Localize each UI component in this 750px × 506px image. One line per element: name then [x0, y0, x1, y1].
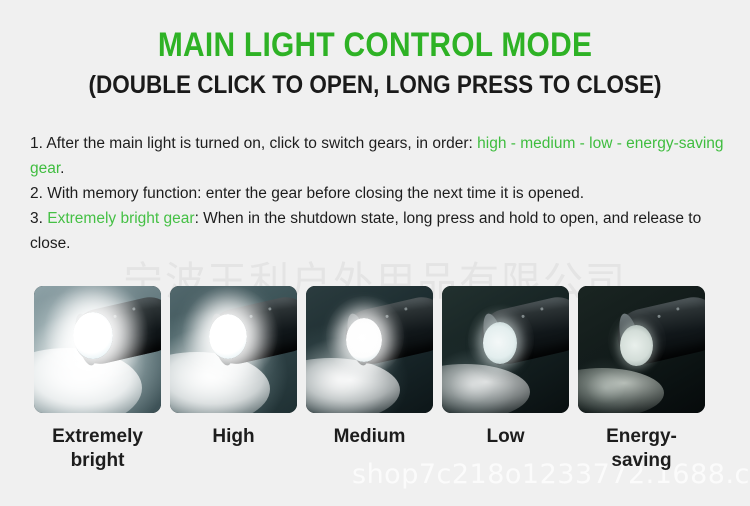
instruction-3-number: 3. — [30, 210, 43, 227]
barrel-dot-1 — [385, 315, 389, 319]
caption-extremely-bright: Extremely bright — [34, 425, 161, 473]
instruction-item-1: 1. After the main light is turned on, cl… — [30, 131, 730, 181]
caption-low: Low — [442, 425, 569, 473]
gallery-image-low — [442, 286, 569, 413]
instruction-1-number: 1. — [30, 135, 43, 152]
led-emitter — [73, 312, 113, 359]
gallery-image-energy-saving — [578, 286, 705, 413]
barrel-dot-1 — [657, 315, 661, 319]
caption-high: High — [170, 425, 297, 473]
instruction-2-number: 2. — [30, 185, 43, 202]
barrel-dot-2 — [404, 307, 408, 311]
instruction-1-period: . — [60, 160, 64, 177]
instruction-3-highlight: Extremely bright gear — [47, 210, 194, 227]
instruction-item-2: 2. With memory function: enter the gear … — [30, 181, 730, 206]
product-info-banner: MAIN LIGHT CONTROL MODE (DOUBLE CLICK TO… — [0, 0, 750, 506]
instruction-list: 1. After the main light is turned on, cl… — [30, 131, 730, 256]
gallery-image-medium — [306, 286, 433, 413]
caption-energy-saving: Energy-saving — [578, 425, 705, 473]
page-subtitle: (DOUBLE CLICK TO OPEN, LONG PRESS TO CLO… — [38, 72, 713, 98]
gallery-image-extremely-bright — [34, 286, 161, 413]
instruction-1-text: After the main light is turned on, click… — [46, 135, 472, 152]
gallery-image-high — [170, 286, 297, 413]
page-title: MAIN LIGHT CONTROL MODE — [45, 28, 705, 64]
led-emitter — [483, 322, 517, 364]
barrel-dot-2 — [540, 307, 544, 311]
led-emitter — [346, 318, 382, 362]
led-emitter — [620, 325, 653, 366]
instruction-item-3: 3. Extremely bright gear: When in the sh… — [30, 206, 730, 256]
barrel-dot-1 — [113, 315, 117, 319]
barrel-dot-2 — [268, 307, 272, 311]
brightness-gallery — [34, 286, 718, 413]
barrel-dot-1 — [249, 315, 253, 319]
barrel-dot-2 — [676, 307, 680, 311]
barrel-dot-2 — [132, 307, 136, 311]
gallery-captions: Extremely bright High Medium Low Energy-… — [34, 425, 718, 473]
instruction-2-text: With memory function: enter the gear bef… — [47, 185, 584, 202]
led-emitter — [209, 314, 247, 359]
caption-medium: Medium — [306, 425, 433, 473]
barrel-dot-1 — [521, 315, 525, 319]
